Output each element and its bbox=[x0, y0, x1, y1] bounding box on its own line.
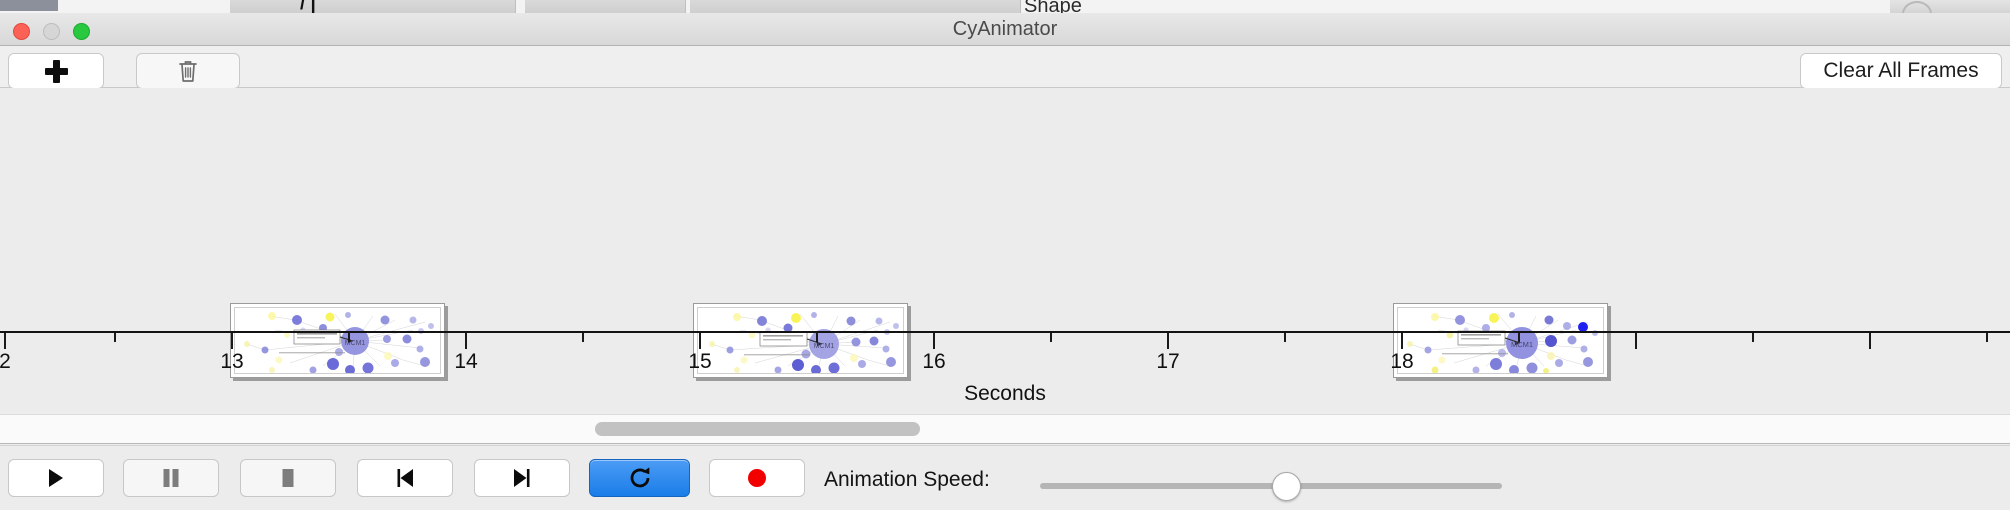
clear-all-frames-button[interactable]: Clear All Frames bbox=[1800, 53, 2002, 89]
network-graph-preview: MCM1 bbox=[1398, 308, 1604, 374]
playback-control-bar: Animation Speed: bbox=[0, 445, 2010, 510]
animation-speed-slider-track[interactable] bbox=[1040, 483, 1502, 489]
window-title: CyAnimator bbox=[0, 13, 2010, 46]
loop-icon bbox=[628, 466, 652, 490]
clear-all-frames-label: Clear All Frames bbox=[1823, 59, 1978, 83]
timeline-axis bbox=[0, 331, 2010, 333]
cyanimator-window: / | Shape CyAnimator Clear All Frames bbox=[0, 0, 2010, 510]
stop-button[interactable] bbox=[240, 459, 336, 497]
scrollbar-thumb[interactable] bbox=[595, 422, 920, 436]
frame-track[interactable]: MCM1 bbox=[0, 88, 2010, 311]
axis-tick-major bbox=[1635, 333, 1637, 349]
axis-tick-major bbox=[933, 333, 935, 349]
axis-tick-minor bbox=[1986, 333, 1988, 342]
axis-tick-major bbox=[465, 333, 467, 349]
record-button[interactable] bbox=[709, 459, 805, 497]
axis-tick-label: 13 bbox=[220, 350, 243, 374]
axis-tick-label: 17 bbox=[1156, 350, 1179, 374]
animation-speed-label: Animation Speed: bbox=[824, 468, 990, 492]
title-bar: CyAnimator bbox=[0, 13, 2010, 46]
background-window-selection bbox=[0, 0, 58, 11]
play-button[interactable] bbox=[8, 459, 104, 497]
axis-tick-minor bbox=[1050, 333, 1052, 342]
axis-tick-minor bbox=[582, 333, 584, 342]
pause-icon bbox=[161, 467, 181, 489]
axis-tick-major bbox=[1869, 333, 1871, 349]
delete-frame-button[interactable] bbox=[136, 53, 240, 89]
frame-thumbnail-image: MCM1 bbox=[1397, 307, 1604, 374]
axis-tick-minor bbox=[348, 333, 350, 342]
timeline-horizontal-scrollbar[interactable] bbox=[0, 414, 2010, 444]
loop-button[interactable] bbox=[589, 459, 690, 497]
record-icon bbox=[746, 467, 768, 489]
skip-to-start-button[interactable] bbox=[357, 459, 453, 497]
axis-tick-major bbox=[4, 333, 6, 349]
background-window-cell bbox=[525, 0, 686, 13]
timeline-frame-thumbnail[interactable]: MCM1 bbox=[1393, 303, 1608, 378]
background-window-cell bbox=[800, 0, 1021, 13]
axis-tick-major bbox=[699, 333, 701, 349]
toolbar: Clear All Frames bbox=[0, 46, 2010, 88]
play-icon bbox=[45, 467, 67, 489]
axis-tick-label: 14 bbox=[454, 350, 477, 374]
network-graph-preview: MCM1 bbox=[698, 308, 904, 374]
trash-icon bbox=[178, 59, 198, 83]
background-window-strip: / | Shape bbox=[0, 0, 2010, 13]
axis-tick-major bbox=[231, 333, 233, 349]
frame-thumbnail-image: MCM1 bbox=[697, 307, 904, 374]
timeline-frame-thumbnail[interactable]: MCM1 bbox=[230, 303, 445, 378]
axis-tick-minor bbox=[816, 333, 818, 342]
network-graph-preview: MCM1 bbox=[235, 308, 441, 374]
axis-tick-minor bbox=[1284, 333, 1286, 342]
axis-tick-label: 18 bbox=[1390, 350, 1413, 374]
axis-title: Seconds bbox=[0, 382, 2010, 406]
skip-to-end-button[interactable] bbox=[474, 459, 570, 497]
stop-icon bbox=[278, 467, 298, 489]
background-window-cell bbox=[415, 0, 516, 13]
axis-tick-label: 15 bbox=[688, 350, 711, 374]
pause-button[interactable] bbox=[123, 459, 219, 497]
axis-tick-major bbox=[1401, 333, 1403, 349]
axis-tick-label: 2 bbox=[0, 350, 11, 374]
axis-tick-label: 16 bbox=[922, 350, 945, 374]
animation-speed-slider-thumb[interactable] bbox=[1272, 472, 1301, 501]
add-frame-button[interactable] bbox=[8, 53, 104, 89]
plus-icon bbox=[45, 60, 68, 83]
timeline-frame-thumbnail[interactable]: MCM1 bbox=[693, 303, 908, 378]
hub-node-label: MCM1 bbox=[1511, 340, 1533, 349]
skip-back-icon bbox=[394, 467, 416, 489]
background-window-glyph: / | bbox=[300, 0, 316, 13]
timeline-panel[interactable]: MCM1 bbox=[0, 88, 2010, 414]
hub-node-label: MCM1 bbox=[814, 343, 835, 350]
axis-tick-minor bbox=[114, 333, 116, 342]
axis-tick-minor bbox=[1518, 333, 1520, 342]
frame-thumbnail-image: MCM1 bbox=[234, 307, 441, 374]
background-window-label: Shape bbox=[1024, 0, 1082, 13]
background-window-cell bbox=[230, 0, 416, 13]
background-window-cell bbox=[690, 0, 801, 13]
skip-forward-icon bbox=[511, 467, 533, 489]
axis-tick-minor bbox=[1752, 333, 1754, 342]
axis-tick-major bbox=[1167, 333, 1169, 349]
